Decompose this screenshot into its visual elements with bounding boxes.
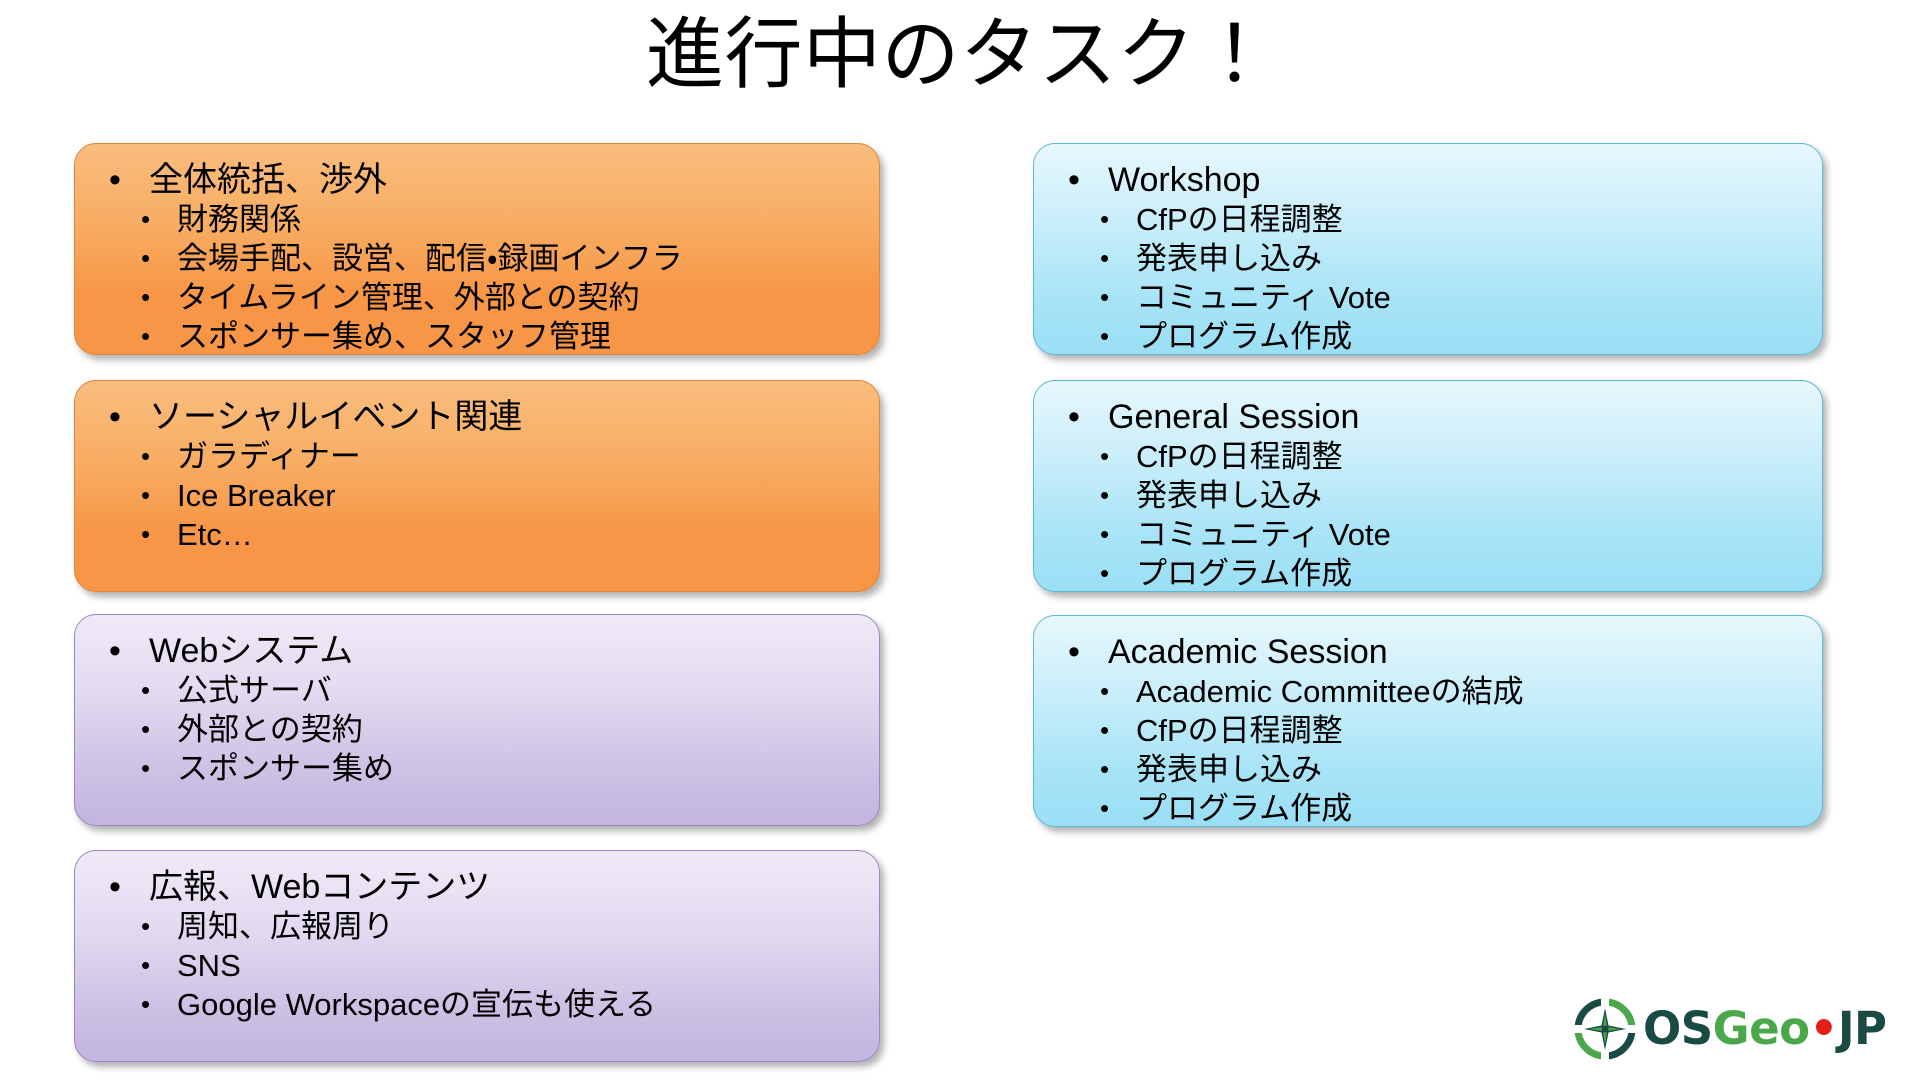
list-item-label: 周知、広報周り <box>177 909 394 944</box>
task-card-academic-session[interactable]: • Academic Session • Academic Committeeの… <box>1033 615 1823 827</box>
bullet-list-level2: • ガラディナー • Ice Breaker • Etc… <box>93 437 861 554</box>
list-item-label: 発表申し込み <box>1136 752 1322 787</box>
bullet-icon: • <box>1100 554 1109 592</box>
card-heading-label: 全体統括、渉外 <box>149 161 387 199</box>
list-item: • CfPの日程調整 <box>1052 200 1804 239</box>
card-heading: • Webシステム <box>93 631 861 671</box>
list-item-label: コミュニティ Vote <box>1136 517 1391 552</box>
list-item-label: Ice Breaker <box>177 478 336 513</box>
list-item-label: プログラム作成 <box>1136 319 1352 354</box>
bullet-icon: • <box>1100 317 1109 355</box>
list-item-label: Etc… <box>177 517 253 552</box>
bullet-list-level1: • General Session <box>1052 397 1804 437</box>
bullet-list-level2: • Academic Committeeの結成 • CfPの日程調整 • 発表申… <box>1052 672 1804 827</box>
bullet-list-level1: • Workshop <box>1052 160 1804 200</box>
bullet-icon: • <box>141 710 150 749</box>
list-item: • 周知、広報周り <box>93 907 861 946</box>
list-item-label: ガラディナー <box>177 439 361 474</box>
bullet-icon: • <box>1100 672 1109 711</box>
bullet-icon: • <box>141 985 150 1024</box>
bullet-icon: • <box>109 867 121 907</box>
card-heading-label: Academic Session <box>1108 633 1388 671</box>
card-heading: • Workshop <box>1052 160 1804 200</box>
list-item: • スポンサー集め <box>93 749 861 788</box>
bullet-icon: • <box>109 160 121 200</box>
card-heading: • 広報、Webコンテンツ <box>93 867 861 907</box>
list-item-label: コミュニティ Vote <box>1136 280 1391 315</box>
list-item-label: 発表申し込み <box>1136 478 1322 513</box>
list-item: • プログラム作成 <box>1052 554 1804 592</box>
list-item: • Etc… <box>93 515 861 554</box>
logo-separator-dot: • <box>1810 1002 1838 1055</box>
list-item: • コミュニティ Vote <box>1052 515 1804 554</box>
list-item-label: タイムライン管理、外部との契約 <box>177 280 640 315</box>
bullet-list-level1: • ソーシャルイベント関連 <box>93 397 861 437</box>
bullet-icon: • <box>1068 160 1080 200</box>
bullet-icon: • <box>1100 711 1109 750</box>
logo-text-jp: JP <box>1838 1002 1887 1055</box>
task-card-pr-web-contents[interactable]: • 広報、Webコンテンツ • 周知、広報周り • SNS • Google W… <box>74 850 880 1062</box>
bullet-icon: • <box>141 200 150 239</box>
list-item: • 発表申し込み <box>1052 239 1804 278</box>
bullet-icon: • <box>1068 632 1080 672</box>
list-item-label: スポンサー集め <box>177 751 394 786</box>
bullet-icon: • <box>109 631 121 671</box>
bullet-list-level2: • CfPの日程調整 • 発表申し込み • コミュニティ Vote • プログラ… <box>1052 200 1804 355</box>
task-card-workshop[interactable]: • Workshop • CfPの日程調整 • 発表申し込み • コミュニティ … <box>1033 143 1823 355</box>
list-item-label: 財務関係 <box>177 202 301 237</box>
list-item: • 発表申し込み <box>1052 476 1804 515</box>
list-item: • 発表申し込み <box>1052 750 1804 789</box>
list-item: • 財務関係 <box>93 200 861 239</box>
card-heading-label: 広報、Webコンテンツ <box>149 868 490 906</box>
list-item: • プログラム作成 <box>1052 317 1804 355</box>
card-heading-label: Webシステム <box>149 632 353 670</box>
bullet-list-level1: • Webシステム <box>93 631 861 671</box>
list-item: • プログラム作成 <box>1052 789 1804 827</box>
list-item: • ガラディナー <box>93 437 861 476</box>
task-card-overall[interactable]: • 全体統括、渉外 • 財務関係 • 会場手配、設営、配信・録画インフラ • タ… <box>74 143 880 355</box>
list-item-label: CfPの日程調整 <box>1136 439 1343 474</box>
bullet-list-level2: • 財務関係 • 会場手配、設営、配信・録画インフラ • タイムライン管理、外部… <box>93 200 861 355</box>
list-item-label: 外部との契約 <box>177 712 363 747</box>
bullet-list-level1: • 全体統括、渉外 <box>93 160 861 200</box>
bullet-icon: • <box>141 278 150 317</box>
bullet-icon: • <box>1100 789 1109 827</box>
list-item-label: Google Workspaceの宣伝も使える <box>177 987 656 1022</box>
list-item: • SNS <box>93 946 861 985</box>
list-item: • タイムライン管理、外部との契約 <box>93 278 861 317</box>
bullet-icon: • <box>1068 397 1080 437</box>
list-item: • Ice Breaker <box>93 476 861 515</box>
logo-text-geo: Geo <box>1713 1002 1810 1055</box>
list-item: • 公式サーバ <box>93 671 861 710</box>
bullet-icon: • <box>141 437 150 476</box>
list-item-label: スポンサー集め、スタッフ管理 <box>177 319 611 354</box>
card-heading-label: Workshop <box>1108 161 1260 199</box>
page-title: 進行中のタスク！ <box>0 2 1920 106</box>
list-item-label: 発表申し込み <box>1136 241 1322 276</box>
bullet-icon: • <box>141 671 150 710</box>
card-heading-label: General Session <box>1108 398 1359 436</box>
list-item: • 外部との契約 <box>93 710 861 749</box>
bullet-icon: • <box>1100 476 1109 515</box>
list-item-label: 会場手配、設営、配信・録画インフラ <box>177 241 683 276</box>
logo-text-os: OS <box>1643 1002 1713 1055</box>
card-heading-label: ソーシャルイベント関連 <box>149 398 522 436</box>
card-heading: • General Session <box>1052 397 1804 437</box>
bullet-icon: • <box>1100 437 1109 476</box>
bullet-icon: • <box>1100 515 1109 554</box>
task-card-web-system[interactable]: • Webシステム • 公式サーバ • 外部との契約 • スポンサー集め <box>74 614 880 826</box>
task-card-social-event[interactable]: • ソーシャルイベント関連 • ガラディナー • Ice Breaker • E… <box>74 380 880 592</box>
bullet-list-level1: • Academic Session <box>1052 632 1804 672</box>
bullet-icon: • <box>141 515 150 554</box>
list-item: • 会場手配、設営、配信・録画インフラ <box>93 239 861 278</box>
osgeo-jp-logo: OSGeo•JP <box>1573 995 1873 1063</box>
bullet-icon: • <box>1100 278 1109 317</box>
list-item-label: Academic Committeeの結成 <box>1136 674 1524 709</box>
bullet-icon: • <box>141 239 150 278</box>
bullet-icon: • <box>1100 200 1109 239</box>
list-item: • Academic Committeeの結成 <box>1052 672 1804 711</box>
bullet-list-level2: • 公式サーバ • 外部との契約 • スポンサー集め <box>93 671 861 788</box>
bullet-list-level2: • 周知、広報周り • SNS • Google Workspaceの宣伝も使え… <box>93 907 861 1024</box>
logo-wordmark: OSGeo•JP <box>1643 1004 1887 1054</box>
bullet-icon: • <box>1100 239 1109 278</box>
bullet-list-level1: • 広報、Webコンテンツ <box>93 867 861 907</box>
bullet-icon: • <box>141 946 150 985</box>
task-card-general-session[interactable]: • General Session • CfPの日程調整 • 発表申し込み • … <box>1033 380 1823 592</box>
bullet-icon: • <box>141 907 150 946</box>
card-heading: • 全体統括、渉外 <box>93 160 861 200</box>
list-item: • CfPの日程調整 <box>1052 437 1804 476</box>
list-item: • スポンサー集め、スタッフ管理 <box>93 317 861 355</box>
list-item-label: プログラム作成 <box>1136 791 1352 826</box>
list-item-label: CfPの日程調整 <box>1136 202 1343 237</box>
list-item-label: SNS <box>177 948 241 983</box>
bullet-list-level2: • CfPの日程調整 • 発表申し込み • コミュニティ Vote • プログラ… <box>1052 437 1804 592</box>
compass-rose-icon <box>1573 997 1637 1061</box>
list-item-label: CfPの日程調整 <box>1136 713 1343 748</box>
list-item-label: プログラム作成 <box>1136 556 1352 591</box>
bullet-icon: • <box>141 476 150 515</box>
bullet-icon: • <box>1100 750 1109 789</box>
bullet-icon: • <box>141 749 150 788</box>
card-heading: • ソーシャルイベント関連 <box>93 397 861 437</box>
list-item: • CfPの日程調整 <box>1052 711 1804 750</box>
bullet-icon: • <box>109 397 121 437</box>
list-item: • Google Workspaceの宣伝も使える <box>93 985 861 1024</box>
list-item-label: 公式サーバ <box>177 673 332 708</box>
list-item: • コミュニティ Vote <box>1052 278 1804 317</box>
card-heading: • Academic Session <box>1052 632 1804 672</box>
bullet-icon: • <box>141 317 150 355</box>
